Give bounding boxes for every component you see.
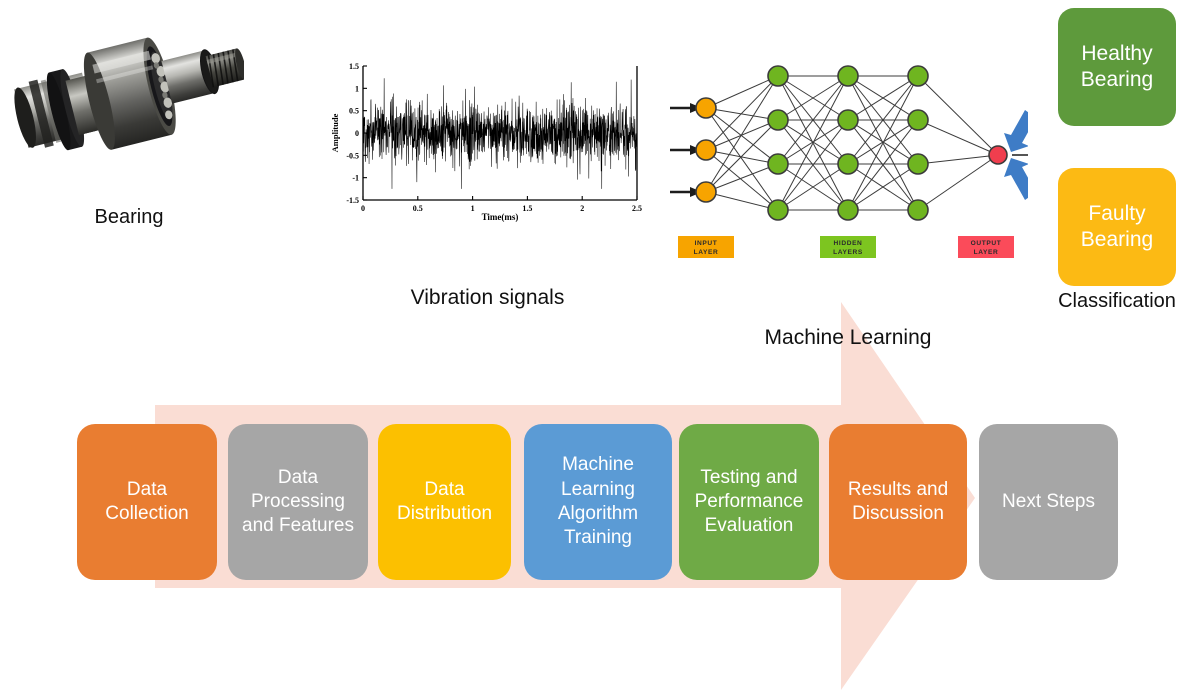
svg-text:1.5: 1.5 (349, 62, 359, 71)
faulty-bearing-line1: Faulty (1088, 202, 1145, 225)
hidden-layers-label: HIDDEN LAYERS (820, 236, 876, 258)
hidden-node-1-0 (768, 66, 788, 86)
output-layer-label: OUTPUT LAYER (958, 236, 1014, 258)
step-results-discussion[interactable]: Results andDiscussion (829, 424, 967, 580)
svg-text:-1: -1 (352, 174, 359, 183)
svg-text:1: 1 (355, 84, 359, 93)
svg-text:1.5: 1.5 (522, 204, 532, 213)
svg-text:Time(ms): Time(ms) (482, 212, 519, 222)
svg-text:HIDDEN: HIDDEN (834, 240, 863, 247)
hidden-node-2-3 (838, 200, 858, 220)
neural-network-diagram: INPUT LAYER HIDDEN LAYERS OUTPUT LAYER (668, 58, 1028, 273)
svg-text:0: 0 (355, 129, 359, 138)
svg-text:2.5: 2.5 (632, 204, 642, 213)
bearing-block: Bearing (14, 10, 244, 240)
svg-text:-0.5: -0.5 (346, 151, 359, 160)
step-ml-training-label: MachineLearningAlgorithmTraining (550, 453, 646, 550)
step-ml-training[interactable]: MachineLearningAlgorithmTraining (524, 424, 672, 580)
hidden-node-1-3 (768, 200, 788, 220)
output-node-4-0 (989, 146, 1007, 164)
faulty-bearing-line2: Bearing (1081, 228, 1153, 251)
hidden-node-2-2 (838, 154, 858, 174)
faulty-bearing-box[interactable]: Faulty Bearing (1058, 168, 1176, 286)
svg-text:0.5: 0.5 (349, 107, 359, 116)
step-data-collection-label: DataCollection (97, 478, 196, 527)
svg-text:INPUT: INPUT (695, 240, 718, 247)
svg-text:OUTPUT: OUTPUT (971, 240, 1002, 247)
svg-text:LAYER: LAYER (694, 249, 719, 256)
hidden-node-2-1 (838, 110, 858, 130)
svg-text:LAYER: LAYER (974, 249, 999, 256)
neural-network-block: INPUT LAYER HIDDEN LAYERS OUTPUT LAYER M… (668, 58, 1028, 298)
input-node-0-2 (696, 182, 716, 202)
hidden-node-1-1 (768, 110, 788, 130)
hidden-node-2-0 (838, 66, 858, 86)
healthy-bearing-line2: Bearing (1081, 68, 1153, 91)
hidden-node-1-2 (768, 154, 788, 174)
hidden-node-3-1 (908, 110, 928, 130)
bearing-caption: Bearing (14, 206, 244, 229)
step-data-collection[interactable]: DataCollection (77, 424, 217, 580)
step-next-steps[interactable]: Next Steps (979, 424, 1118, 580)
svg-text:2: 2 (580, 204, 584, 213)
step-data-processing-label: DataProcessingand Features (234, 466, 362, 539)
diagram-canvas: Bearing 1.510.50-0.5-1-1.5 00.511.522.5 … (0, 0, 1202, 700)
step-testing-evaluation[interactable]: Testing andPerformanceEvaluation (679, 424, 819, 580)
step-data-distribution-label: DataDistribution (389, 478, 500, 527)
step-data-processing[interactable]: DataProcessingand Features (228, 424, 368, 580)
step-data-distribution[interactable]: DataDistribution (378, 424, 511, 580)
step-next-steps-label: Next Steps (994, 490, 1103, 514)
classification-block: Healthy Bearing Faulty Bearing Classific… (1030, 8, 1202, 308)
svg-text:-1.5: -1.5 (346, 196, 359, 205)
healthy-bearing-line1: Healthy (1081, 42, 1152, 65)
hidden-node-3-0 (908, 66, 928, 86)
svg-text:LAYERS: LAYERS (833, 249, 863, 256)
svg-text:Amplitude: Amplitude (330, 113, 340, 152)
machine-learning-caption: Machine Learning (728, 326, 968, 350)
svg-text:0.5: 0.5 (413, 204, 423, 213)
input-layer-label: INPUT LAYER (678, 236, 734, 258)
bearing-photograph (14, 10, 244, 190)
hidden-node-3-2 (908, 154, 928, 174)
vibration-signal-chart: 1.510.50-0.5-1-1.5 00.511.522.5 Amplitud… (325, 58, 650, 223)
input-node-0-1 (696, 140, 716, 160)
process-steps-row: DataCollectionDataProcessingand Features… (0, 424, 1202, 580)
input-node-0-0 (696, 98, 716, 118)
step-testing-evaluation-label: Testing andPerformanceEvaluation (687, 466, 812, 539)
hidden-node-3-3 (908, 200, 928, 220)
svg-text:0: 0 (361, 204, 365, 213)
vibration-chart-block: 1.510.50-0.5-1-1.5 00.511.522.5 Amplitud… (325, 58, 650, 258)
vibration-caption: Vibration signals (325, 286, 650, 310)
healthy-bearing-box[interactable]: Healthy Bearing (1058, 8, 1176, 126)
classification-caption: Classification (1022, 290, 1202, 313)
svg-text:1: 1 (471, 204, 475, 213)
step-results-discussion-label: Results andDiscussion (840, 478, 956, 527)
